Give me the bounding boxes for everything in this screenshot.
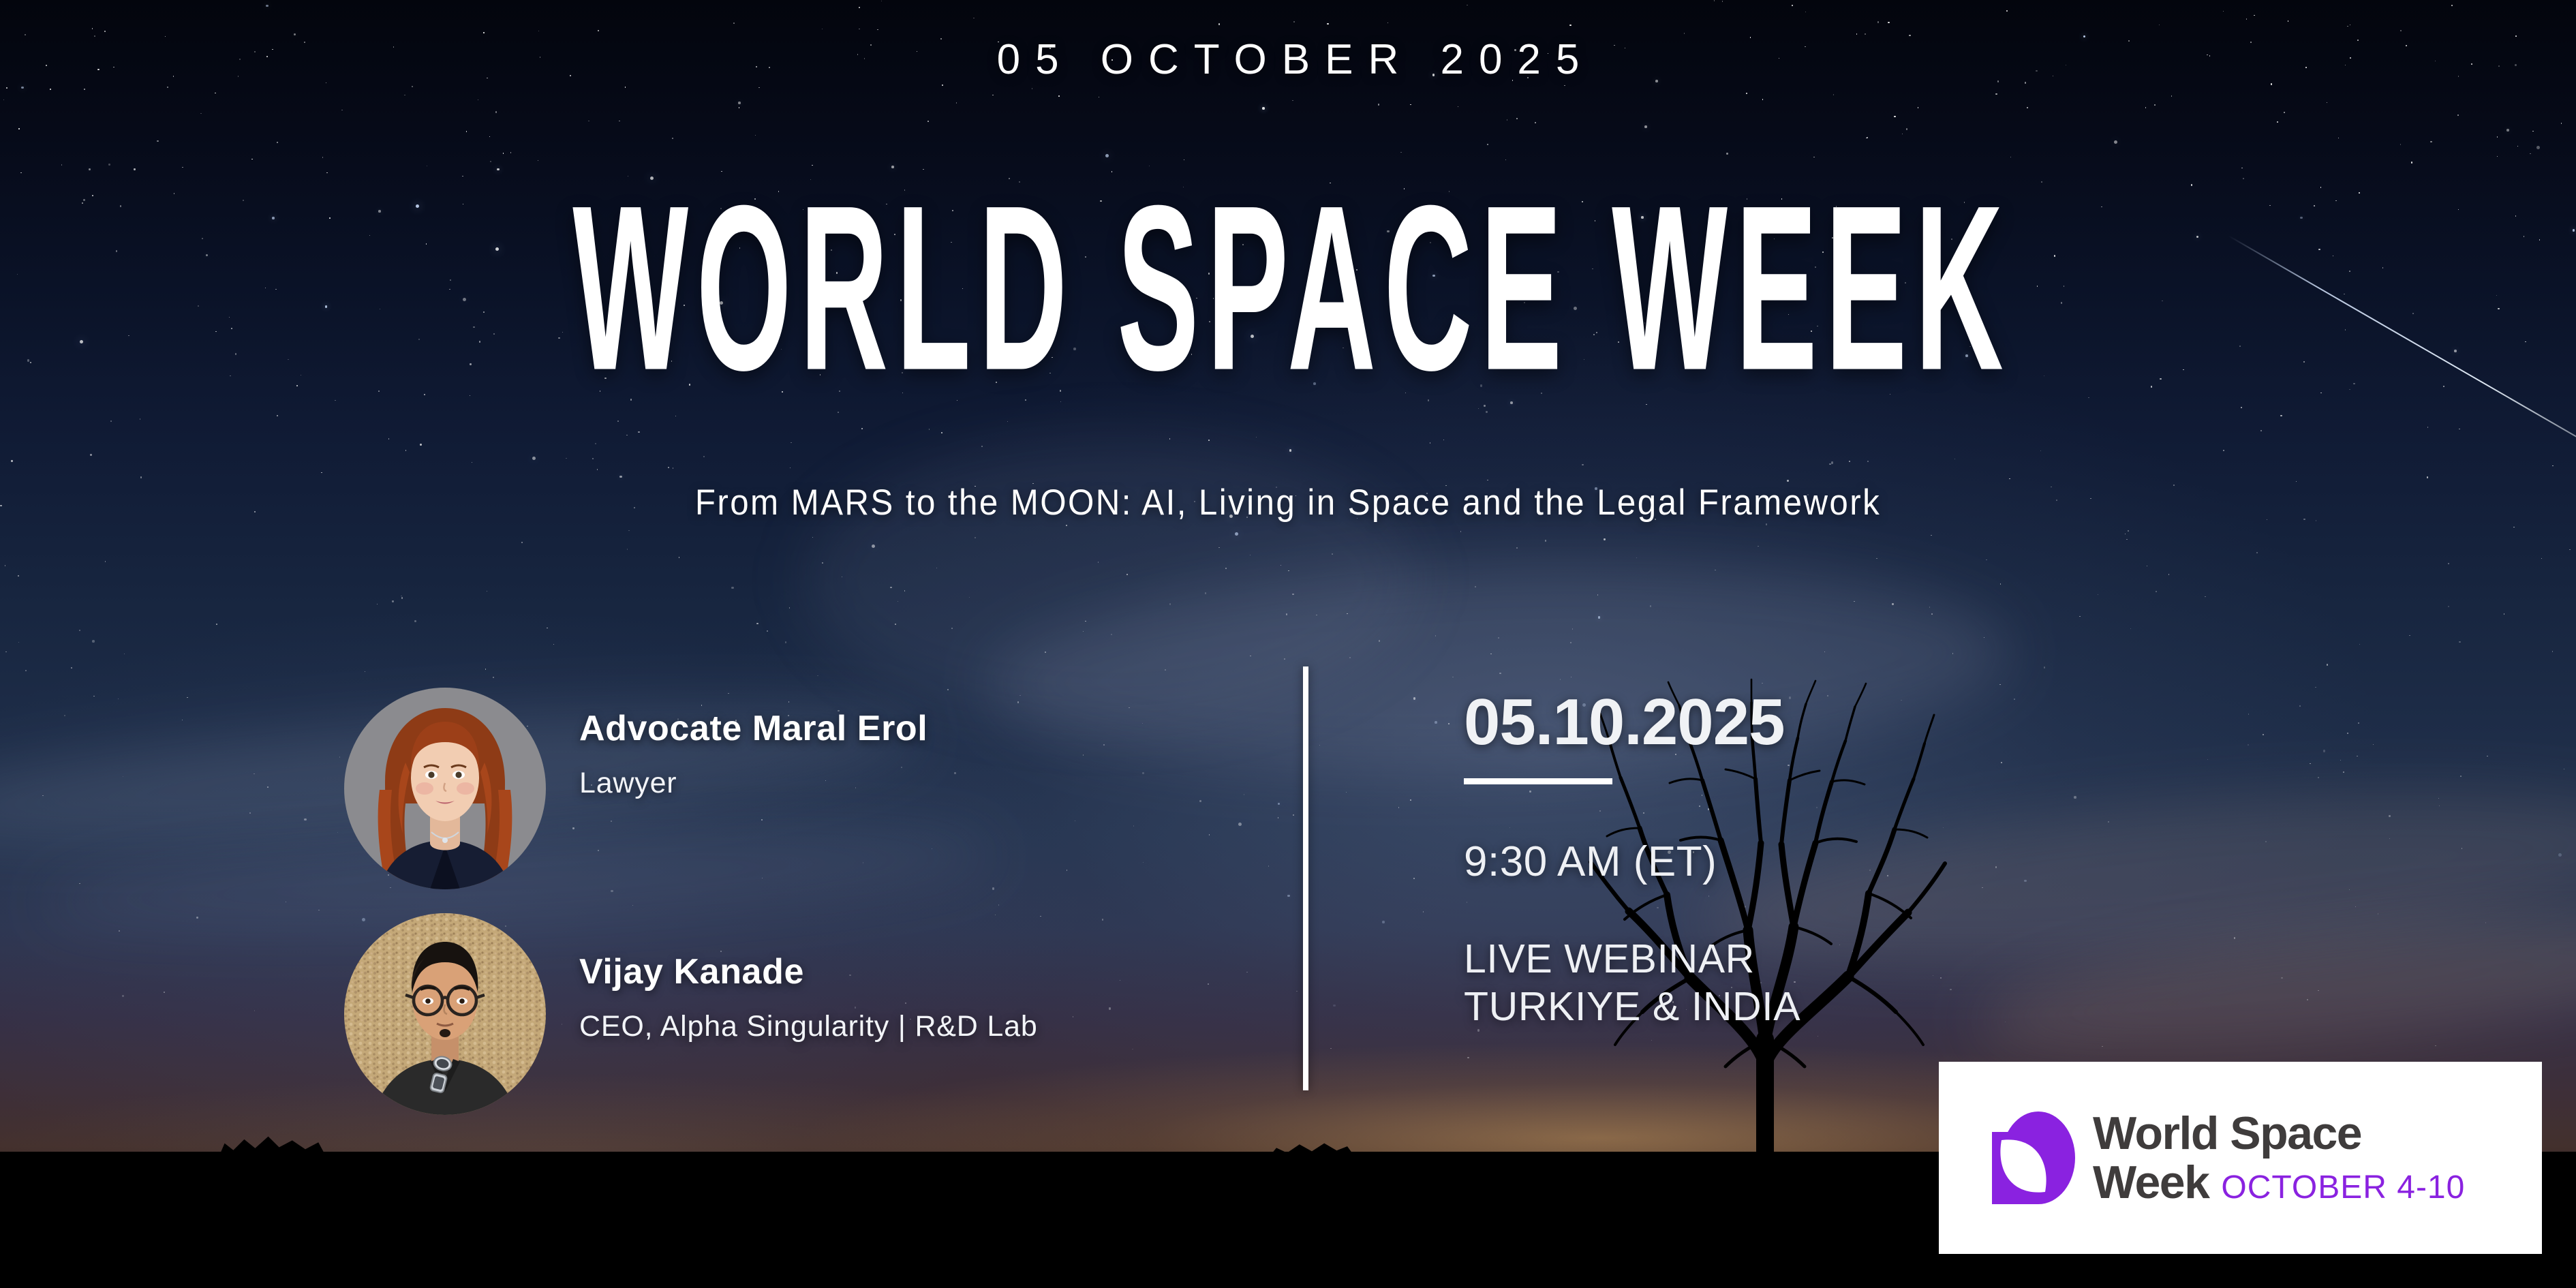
event-mode: LIVE WEBINAR TURKIYE & INDIA	[1464, 936, 2009, 1030]
event-time: 9:30 AM (ET)	[1464, 839, 2009, 885]
world-space-week-logo-mark-icon	[1992, 1111, 2075, 1204]
world-space-week-logo: World Space Week OCTOBER 4-10	[1939, 1062, 2542, 1254]
speaker-role: CEO, Alpha Singularity | R&D Lab	[579, 1010, 1038, 1043]
logo-text-dates: OCTOBER 4-10	[2221, 1171, 2465, 1204]
event-date-underline	[1464, 778, 1612, 784]
event-mode-line-1: LIVE WEBINAR	[1464, 936, 2009, 983]
speaker-text: Advocate Maral Erol Lawyer	[579, 708, 927, 800]
event-date: 05.10.2025	[1464, 690, 2009, 755]
page-subtitle: From MARS to the MOON: AI, Living in Spa…	[426, 477, 2150, 528]
logo-wordmark: World Space Week OCTOBER 4-10	[2093, 1110, 2465, 1206]
speaker-name: Advocate Maral Erol	[579, 708, 927, 749]
event-date-header: 05 OCTOBER 2025	[0, 35, 2576, 84]
avatar-portrait-vijay-kanade	[344, 913, 546, 1115]
speaker-card: Vijay Kanade CEO, Alpha Singularity | R&…	[337, 910, 1251, 1135]
page-title: WORLD SPACE WEEK	[361, 177, 2215, 398]
event-mode-line-2: TURKIYE & INDIA	[1464, 983, 2009, 1031]
speaker-text: Vijay Kanade CEO, Alpha Singularity | R&…	[579, 951, 1038, 1043]
speaker-name: Vijay Kanade	[579, 951, 1038, 992]
speaker-role: Lawyer	[579, 767, 927, 800]
logo-text-world-space: World Space	[2093, 1110, 2465, 1156]
avatar-portrait-maral-erol	[344, 688, 546, 889]
logo-text-week: Week	[2093, 1159, 2209, 1206]
event-info-panel: 05.10.2025 9:30 AM (ET) LIVE WEBINAR TUR…	[1464, 690, 2009, 1030]
vertical-divider	[1303, 666, 1308, 1090]
speaker-card: Advocate Maral Erol Lawyer	[337, 685, 1251, 910]
world-space-week-banner: 05 OCTOBER 2025 WORLD SPACE WEEK From MA…	[0, 0, 2576, 1288]
speakers-list: Advocate Maral Erol Lawyer	[337, 685, 1251, 1135]
